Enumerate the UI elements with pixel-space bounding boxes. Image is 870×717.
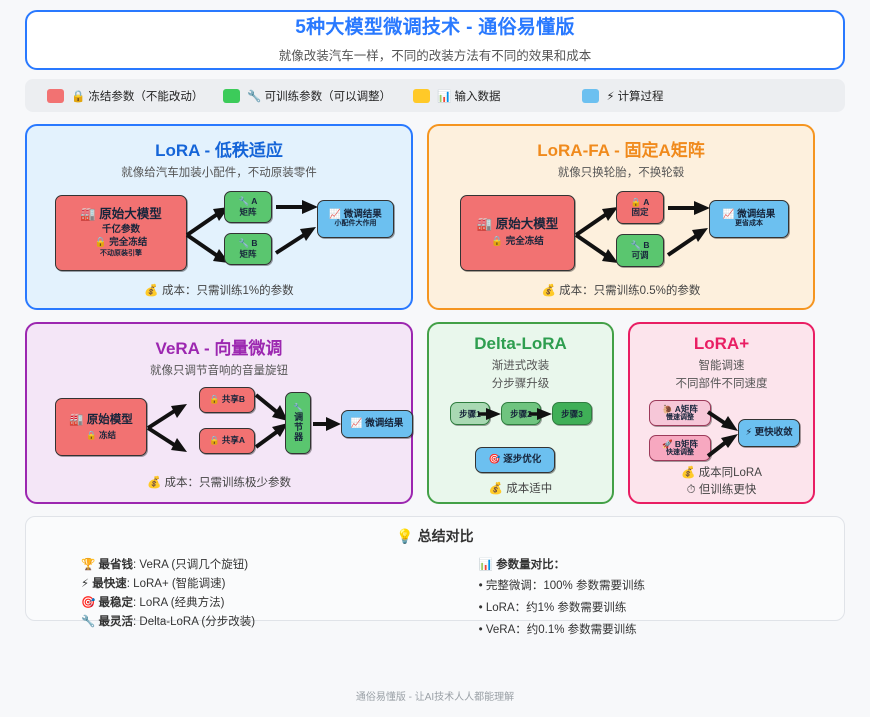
card-lora-fa[interactable]: LoRA-FA - 固定A矩阵 就像只换轮胎，不换轮毂 🏭 原始大模型 🔒 完全… [427, 124, 815, 310]
fa-cost: 💰 成本：只需训练0.5%的参数 [429, 282, 813, 298]
fa-matrix-b-box[interactable]: 🔧 B 可调 [616, 234, 664, 267]
page-root: 5种大模型微调技术 - 通俗易懂版 就像改装汽车一样，不同的改装方法有不同的效果… [0, 0, 870, 717]
card-lora-fa-title: LoRA-FA - 固定A矩阵 [429, 136, 813, 161]
summary-key-cheapest: 最省钱 [99, 559, 134, 571]
legend-label-frozen: 冻结参数（不能改动） [88, 88, 203, 104]
fa-result-title: 微调结果 [737, 209, 775, 220]
lora-matrix-a-line2: 矩阵 [239, 207, 256, 218]
delta-step-3[interactable]: 步骤3 [552, 402, 592, 425]
delta-optimize-label: 逐步优化 [503, 454, 541, 465]
chart-up-icon: 📈 [329, 209, 341, 220]
summary-value-flexible: Delta-LoRA (分步改装) [139, 616, 255, 628]
card-lora[interactable]: LoRA - 低秩适应 就像给汽车加装小配件，不动原装零件 🏭 原始大模型 千亿… [25, 124, 413, 310]
money-icon: 💰 [147, 477, 161, 489]
target-icon: 🎯 [489, 454, 501, 465]
lock-icon: 🔒 [631, 197, 642, 207]
bulb-icon: 💡 [396, 528, 413, 544]
plus-matrix-a-line2: 慢速调整 [666, 414, 694, 422]
lock-icon: 🔒 [209, 394, 220, 404]
plus-matrix-b-label: B矩阵 [675, 439, 698, 449]
legend-item-trainable: 🔧 可训练参数（可以调整） [223, 88, 391, 104]
wrench-icon: 🔧 [238, 238, 249, 248]
lock-icon: 🔒 [86, 430, 97, 440]
money-icon: 💰 [144, 285, 158, 297]
lock-icon: 🔒 [71, 89, 85, 103]
trophy-icon: 🏆 [81, 559, 95, 571]
vera-shared-b-box[interactable]: 🔒 共享B [199, 387, 255, 413]
wrench-icon: 🔧 [239, 196, 250, 206]
wrench-icon: 🔧 [81, 616, 95, 628]
wrench-icon: 🔧 [630, 240, 641, 250]
legend-bar: 🔒 冻结参数（不能改动） 🔧 可训练参数（可以调整） 📊 输入数据 ⚡ 计算过程 [25, 79, 845, 112]
legend-item-compute: ⚡ 计算过程 [582, 88, 663, 104]
fa-result-line2: 更省成本 [735, 220, 763, 228]
lora-model-box[interactable]: 🏭 原始大模型 千亿参数 🔒 完全冻结 不动原装引擎 [55, 195, 187, 271]
legend-swatch-frozen [47, 89, 64, 103]
legend-swatch-trainable [223, 89, 240, 103]
summary-right-column: 📊 参数量对比： • 完整微调：100% 参数需要训练 • LoRA：约1% 参… [419, 556, 844, 641]
plus-matrix-a-label: A矩阵 [675, 404, 698, 414]
plus-cost: 💰 成本同LoRA [630, 464, 813, 480]
plus-matrix-b-line2: 快速调整 [666, 449, 694, 457]
lock-icon: 🔒 [95, 237, 107, 248]
vera-arrow-to-result [311, 414, 345, 434]
plus-cost-text: 成本同LoRA [699, 467, 762, 479]
summary-item-stablest: 🎯 最稳定: LoRA (经典方法) [81, 594, 419, 613]
delta-cost: 💰 成本适中 [429, 480, 612, 496]
summary-value-cheapest: VeRA (只调几个旋钮) [139, 559, 248, 571]
card-lora-subtitle: 就像给汽车加装小配件，不动原装零件 [27, 165, 411, 182]
card-delta-title: Delta-LoRA [429, 334, 612, 354]
summary-left-column: 🏆 最省钱: VeRA (只调几个旋钮) ⚡ 最快速: LoRA+ (智能调速)… [26, 556, 419, 641]
vera-shared-b-label: 共享B [222, 394, 245, 404]
summary-panel: 💡 总结对比 🏆 最省钱: VeRA (只调几个旋钮) ⚡ 最快速: LoRA+… [25, 516, 845, 621]
plus-matrix-a-box[interactable]: 🐌 A矩阵 慢速调整 [649, 400, 711, 426]
summary-item-fastest: ⚡ 最快速: LoRA+ (智能调速) [81, 575, 419, 594]
lora-matrix-b-line2: 矩阵 [239, 249, 256, 260]
snail-icon: 🐌 [662, 404, 673, 414]
lora-matrix-b-box[interactable]: 🔧 B 矩阵 [224, 233, 272, 265]
vera-knob-label: 调节器 [292, 412, 304, 442]
vera-cost: 💰 成本：只需训练极少参数 [27, 474, 411, 490]
vera-model-line2: 冻结 [99, 430, 116, 440]
fa-model-title: 原始大模型 [496, 217, 559, 231]
plus-note: ⏱ 但训练更快 [630, 481, 813, 497]
vera-shared-a-label: 共享A [222, 435, 245, 445]
lora-model-line3: 完全冻结 [109, 237, 147, 248]
wrench-icon: 🔧 [247, 89, 261, 103]
lora-result-box[interactable]: 📈 微调结果 小配件大作用 [317, 200, 394, 238]
lora-matrix-b-label: B [251, 238, 257, 248]
fa-model-box[interactable]: 🏭 原始大模型 🔒 完全冻结 [460, 195, 575, 271]
legend-swatch-input [413, 89, 430, 103]
card-delta-subtitle-1: 渐进式改装 [429, 358, 612, 375]
lora-cost-text: 成本：只需训练1%的参数 [162, 285, 294, 297]
summary-param-lora: • LoRA：约1% 参数需要训练 [479, 597, 844, 619]
legend-item-frozen: 🔒 冻结参数（不能改动） [47, 88, 203, 104]
fa-matrix-a-box[interactable]: 🔒 A 固定 [616, 191, 664, 224]
lock-icon: 🔒 [491, 236, 503, 247]
page-footer: 通俗易懂版 - 让AI技术人人都能理解 [0, 688, 870, 703]
card-vera[interactable]: VeRA - 向量微调 就像只调节音响的音量旋钮 🏭 原始模型 🔒 冻结 🔒 共… [25, 322, 413, 504]
lora-matrix-a-label: A [251, 196, 257, 206]
vera-result-box[interactable]: 📈 微调结果 [341, 410, 413, 438]
card-vera-subtitle: 就像只调节音响的音量旋钮 [27, 363, 411, 380]
lightning-icon: ⚡ [606, 89, 614, 103]
cards-row-1: LoRA - 低秩适应 就像给汽车加装小配件，不动原装零件 🏭 原始大模型 千亿… [25, 124, 845, 310]
factory-icon: 🏭 [80, 207, 96, 221]
rocket-icon: 🚀 [662, 439, 673, 449]
summary-params-heading: 📊 参数量对比： [479, 556, 844, 575]
card-delta-lora[interactable]: Delta-LoRA 渐进式改装 分步骤升级 步骤1 步骤2 [427, 322, 614, 504]
lightning-icon: ⚡ [81, 578, 89, 590]
vera-cost-text: 成本：只需训练极少参数 [165, 477, 292, 489]
clock-icon: ⏱ [687, 484, 696, 496]
bar-chart-icon: 📊 [479, 559, 493, 571]
bar-chart-icon: 📊 [437, 89, 451, 103]
vera-model-box[interactable]: 🏭 原始模型 🔒 冻结 [55, 398, 147, 456]
legend-label-compute: 计算过程 [618, 88, 664, 104]
money-icon: 💰 [489, 483, 503, 495]
summary-title-text: 总结对比 [418, 528, 474, 544]
summary-title: 💡 总结对比 [26, 526, 844, 546]
card-plus-title: LoRA+ [630, 334, 813, 354]
delta-cost-text: 成本适中 [506, 483, 552, 495]
card-plus-subtitle-1: 智能调速 [630, 358, 813, 375]
summary-item-cheapest: 🏆 最省钱: VeRA (只调几个旋钮) [81, 556, 419, 575]
factory-icon: 🏭 [69, 414, 83, 426]
chart-up-icon: 📈 [351, 418, 363, 429]
plus-result-label: 更快收敛 [755, 427, 793, 438]
fa-matrix-a-label: A [643, 197, 649, 207]
page-subtitle: 就像改装汽车一样，不同的改装方法有不同的效果和成本 [279, 45, 592, 64]
legend-item-input: 📊 输入数据 [413, 88, 500, 104]
summary-params-heading-text: 参数量对比： [496, 559, 565, 571]
page-header: 5种大模型微调技术 - 通俗易懂版 就像改装汽车一样，不同的改装方法有不同的效果… [25, 10, 845, 70]
vera-model-title: 原始模型 [87, 414, 133, 426]
cards-row-2: VeRA - 向量微调 就像只调节音响的音量旋钮 🏭 原始模型 🔒 冻结 🔒 共… [25, 322, 845, 504]
lora-result-line2: 小配件大作用 [335, 220, 377, 228]
card-lora-plus[interactable]: LoRA+ 智能调速 不同部件不同速度 🐌 A矩阵 慢速调整 🚀 B矩阵 快速调… [628, 322, 815, 504]
vera-knob-box[interactable]: 🔧 调节器 [285, 392, 311, 454]
fa-model-line2: 完全冻结 [506, 236, 544, 247]
card-lora-title: LoRA - 低秩适应 [27, 136, 411, 161]
fa-matrix-b-label: B [643, 240, 649, 250]
chart-up-icon: 📈 [723, 209, 735, 220]
card-delta-subtitle-2: 分步骤升级 [429, 376, 612, 393]
summary-item-flexible: 🔧 最灵活: Delta-LoRA (分步改装) [81, 613, 419, 632]
money-icon: 💰 [681, 467, 695, 479]
target-icon: 🎯 [81, 597, 95, 609]
fa-cost-text: 成本：只需训练0.5%的参数 [559, 285, 700, 297]
summary-param-full: • 完整微调：100% 参数需要训练 [479, 575, 844, 597]
vera-result-title: 微调结果 [365, 418, 403, 429]
card-plus-subtitle-2: 不同部件不同速度 [630, 376, 813, 393]
summary-value-stablest: LoRA (经典方法) [139, 597, 224, 609]
delta-step-3-label: 步骤3 [561, 409, 583, 420]
factory-icon: 🏭 [477, 217, 493, 231]
card-vera-title: VeRA - 向量微调 [27, 334, 411, 359]
lora-result-title: 微调结果 [344, 209, 382, 220]
fa-result-box[interactable]: 📈 微调结果 更省成本 [709, 200, 789, 238]
legend-swatch-compute [582, 89, 599, 103]
summary-key-stablest: 最稳定 [99, 597, 134, 609]
vera-arrow-split [146, 396, 196, 458]
money-icon: 💰 [542, 285, 556, 297]
vera-shared-a-box[interactable]: 🔒 共享A [199, 428, 255, 454]
page-title: 5种大模型微调技术 - 通俗易懂版 [295, 16, 575, 41]
card-lora-fa-subtitle: 就像只换轮胎，不换轮毂 [429, 165, 813, 182]
delta-optimize-box[interactable]: 🎯 逐步优化 [475, 447, 555, 473]
summary-columns: 🏆 最省钱: VeRA (只调几个旋钮) ⚡ 最快速: LoRA+ (智能调速)… [26, 556, 844, 641]
plus-result-box[interactable]: ⚡ 更快收敛 [738, 419, 800, 447]
legend-label-trainable: 可训练参数（可以调整） [265, 88, 392, 104]
summary-key-flexible: 最灵活 [99, 616, 134, 628]
summary-value-fastest: LoRA+ (智能调速) [133, 578, 225, 590]
fa-matrix-a-line2: 固定 [631, 207, 648, 218]
lock-icon: 🔒 [209, 435, 220, 445]
fa-matrix-b-line2: 可调 [631, 250, 648, 261]
lora-model-line2: 千亿参数 [102, 224, 140, 236]
lightning-icon: ⚡ [745, 427, 752, 438]
lora-model-line4: 不动原装引擎 [100, 250, 142, 258]
summary-key-fastest: 最快速 [92, 578, 127, 590]
summary-param-vera: • VeRA：约0.1% 参数需要训练 [479, 619, 844, 641]
lora-matrix-a-box[interactable]: 🔧 A 矩阵 [224, 191, 272, 223]
lora-model-title: 原始大模型 [99, 207, 162, 221]
lora-cost: 💰 成本：只需训练1%的参数 [27, 282, 411, 298]
legend-label-input: 输入数据 [454, 88, 500, 104]
plus-note-text: 但训练更快 [699, 484, 757, 496]
plus-matrix-b-box[interactable]: 🚀 B矩阵 快速调整 [649, 435, 711, 461]
